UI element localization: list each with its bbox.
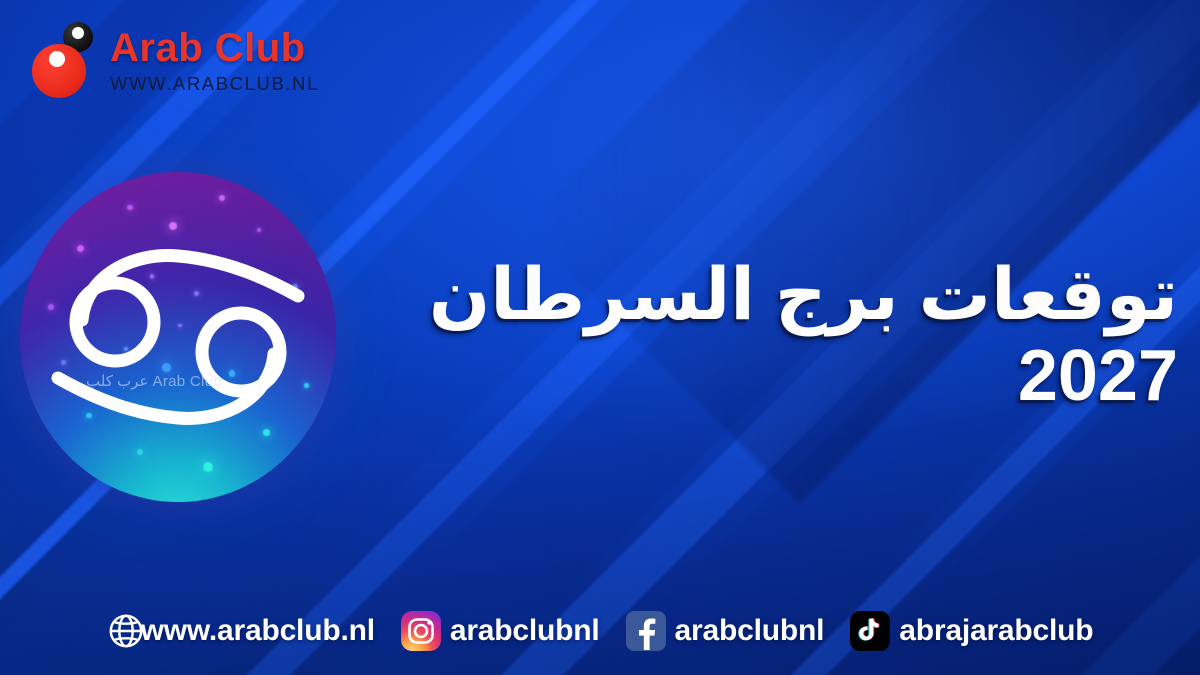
zodiac-badge: عرب كلب Arab Club	[20, 172, 336, 502]
social-handle-facebook: arabclubnl	[675, 614, 825, 648]
social-item-facebook[interactable]: arabclubnl	[626, 611, 825, 651]
page-title: توقعات برج السرطان 2027	[368, 255, 1178, 416]
facebook-icon	[626, 611, 666, 651]
social-handle-tiktok: abrajarabclub	[899, 614, 1093, 648]
red-ball-highlight	[49, 51, 65, 67]
tiktok-icon	[850, 611, 890, 651]
instagram-icon	[401, 611, 441, 651]
social-bar: www.arabclub.nl	[0, 611, 1200, 651]
brand-logo[interactable]: Arab Club WWW.ARABCLUB.NL	[26, 18, 319, 100]
social-item-tiktok[interactable]: abrajarabclub	[850, 611, 1093, 651]
red-ball-icon	[32, 44, 86, 98]
social-item-instagram[interactable]: arabclubnl	[401, 611, 600, 651]
black-ball-highlight	[72, 27, 84, 39]
globe-icon	[107, 612, 145, 650]
zodiac-watermark: عرب كلب Arab Club	[34, 372, 274, 390]
brand-name: Arab Club	[110, 28, 319, 68]
brand-mark	[26, 18, 98, 100]
brand-text: Arab Club WWW.ARABCLUB.NL	[110, 24, 319, 94]
brand-url: WWW.ARABCLUB.NL	[110, 75, 319, 94]
poster-canvas: Arab Club WWW.ARABCLUB.NL عرب كلب Arab	[0, 0, 1200, 675]
social-item-website[interactable]: www.arabclub.nl	[107, 612, 375, 650]
cancer-zodiac-icon	[20, 172, 336, 502]
social-handle-website: www.arabclub.nl	[141, 614, 375, 648]
social-handle-instagram: arabclubnl	[450, 614, 600, 648]
